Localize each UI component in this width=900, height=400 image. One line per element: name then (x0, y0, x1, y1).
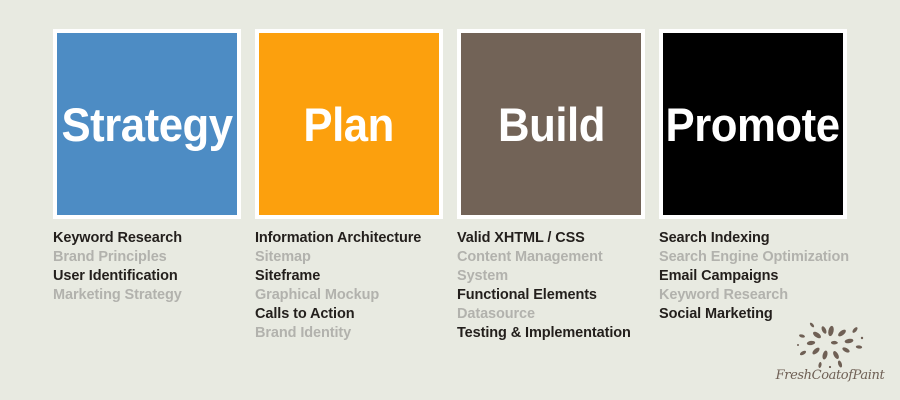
stage-title-promote: Promote (666, 101, 840, 148)
stage-title-plan: Plan (304, 101, 394, 148)
deliverable-list-build: Valid XHTML / CSS Content Management Sys… (457, 229, 657, 343)
process-column-plan: Plan Information Architecture Sitemap Si… (255, 29, 443, 343)
list-item: Brand Identity (255, 324, 443, 343)
list-item: Sitemap (255, 248, 443, 267)
list-item: Calls to Action (255, 305, 443, 324)
list-item: Email Campaigns (659, 267, 864, 286)
list-item: Brand Principles (53, 248, 241, 267)
stage-block-fill-strategy: Strategy (57, 33, 237, 215)
stage-block-build: Build (457, 29, 645, 219)
deliverable-list-strategy: Keyword Research Brand Principles User I… (53, 229, 241, 305)
deliverable-list-plan: Information Architecture Sitemap Sitefra… (255, 229, 443, 343)
list-item: Valid XHTML / CSS (457, 229, 657, 248)
list-item: Functional Elements (457, 286, 657, 305)
list-item: Keyword Research (53, 229, 241, 248)
list-item: Content Management System (457, 248, 657, 286)
list-item: Keyword Research (659, 286, 864, 305)
list-item: Marketing Strategy (53, 286, 241, 305)
paint-splatter-icon (796, 322, 866, 368)
process-column-build: Build Valid XHTML / CSS Content Manageme… (457, 29, 645, 343)
stage-title-build: Build (498, 101, 605, 148)
list-item: Graphical Mockup (255, 286, 443, 305)
stage-block-plan: Plan (255, 29, 443, 219)
list-item: Information Architecture (255, 229, 443, 248)
infographic-canvas: Strategy Keyword Research Brand Principl… (0, 0, 900, 400)
process-column-promote: Promote Search Indexing Search Engine Op… (659, 29, 847, 324)
brand-name: FreshCoatofPaint (770, 368, 890, 383)
process-column-strategy: Strategy Keyword Research Brand Principl… (53, 29, 241, 305)
list-item: Search Engine Optimization (659, 248, 864, 267)
stage-title-strategy: Strategy (61, 101, 232, 148)
list-item: Datasource (457, 305, 657, 324)
stage-block-fill-promote: Promote (663, 33, 843, 215)
stage-block-fill-plan: Plan (259, 33, 439, 215)
stage-block-fill-build: Build (461, 33, 641, 215)
list-item: Siteframe (255, 267, 443, 286)
deliverable-list-promote: Search Indexing Search Engine Optimizati… (659, 229, 864, 324)
brand-watermark: FreshCoatofPaint (770, 322, 890, 394)
stage-block-promote: Promote (659, 29, 847, 219)
process-columns: Strategy Keyword Research Brand Principl… (53, 29, 847, 343)
list-item: Search Indexing (659, 229, 864, 248)
stage-block-strategy: Strategy (53, 29, 241, 219)
list-item: Testing & Implementation (457, 324, 657, 343)
list-item: User Identification (53, 267, 241, 286)
